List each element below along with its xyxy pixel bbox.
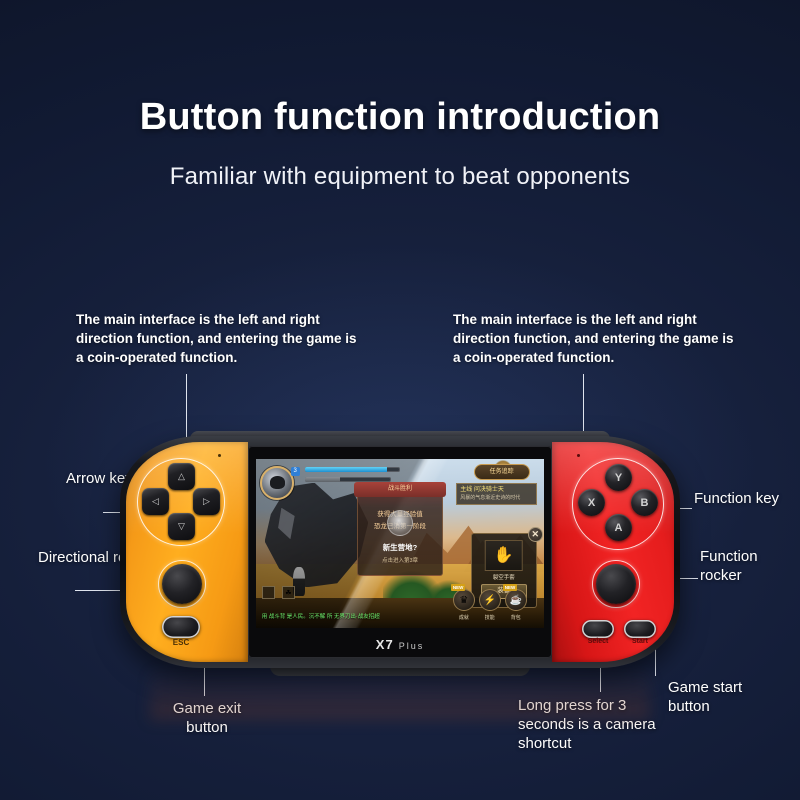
slide-root: Button function introduction Familiar wi…	[0, 0, 800, 800]
select-button[interactable]	[582, 620, 614, 638]
action-button-skills[interactable]: ⚡ 技能	[479, 589, 501, 611]
dialog-line-3: 新生营地?	[358, 542, 442, 553]
brand-model: X7	[376, 637, 394, 652]
glove-item-icon: ✋	[484, 540, 523, 570]
start-button-label: Start	[621, 638, 659, 645]
page-title: Button function introduction	[0, 96, 800, 139]
right-analog-stick[interactable]	[596, 564, 636, 604]
new-badge: NEW	[451, 584, 466, 591]
action-button-achievements[interactable]: NEW ♛ 成就	[453, 589, 475, 611]
callout-right-direction-coin: The main interface is the left and right…	[453, 310, 739, 367]
bag-icon: ☕	[510, 595, 522, 606]
dpad-right-icon[interactable]: ▷	[193, 488, 220, 515]
power-led-right-icon	[577, 454, 580, 457]
new-badge: NEW	[503, 584, 518, 591]
label-camera-shortcut: Long press for 3 seconds is a camera sho…	[518, 696, 670, 754]
button-y[interactable]: Y	[605, 464, 632, 491]
page-subtitle: Familiar with equipment to beat opponent…	[0, 163, 800, 191]
brand-suffix: Plus	[399, 641, 425, 651]
inventory-slot-1[interactable]	[262, 586, 275, 599]
start-button[interactable]	[624, 620, 656, 638]
quest-title: 主线 问决骑士天	[460, 486, 533, 494]
left-analog-stick[interactable]	[162, 564, 202, 604]
action-button-bag[interactable]: NEW ☕ 背包	[505, 589, 527, 611]
action-button-caption: 背包	[502, 614, 530, 621]
dpad-up-icon[interactable]: △	[168, 463, 195, 490]
label-game-exit-button: Game exit button	[152, 699, 262, 737]
face-buttons: Y X A B	[578, 464, 658, 544]
game-chat-text: 用 战斗背 是人民。沉不解 所 无界刀出·战友招超	[262, 613, 380, 621]
game-screen[interactable]: 3 任务追踪 主线 问决骑士天 风暴的气息渐近史诗的时代 战斗胜利 获得大量经验…	[256, 459, 544, 628]
label-game-start-button: Game start button	[668, 678, 768, 716]
label-function-key: Function key	[694, 489, 800, 508]
game-result-dialog[interactable]: 战斗胜利 获得大量经验值 恐龙已消第一阶段 新生营地? 点击进入第3章	[357, 488, 443, 576]
lightning-icon: ⚡	[484, 595, 496, 606]
inventory-slot-2[interactable]: ☘	[282, 586, 295, 599]
quest-tracker-banner[interactable]: 任务追踪	[474, 464, 530, 480]
esc-button[interactable]	[162, 616, 200, 638]
hud-health-bar	[305, 467, 400, 472]
button-x[interactable]: X	[578, 489, 605, 516]
action-button-caption: 成就	[450, 614, 478, 621]
label-function-rocker: Function rocker	[700, 547, 792, 585]
action-button-caption: 技能	[476, 614, 504, 621]
button-a[interactable]: A	[605, 514, 632, 541]
dpad-down-icon[interactable]: ▽	[168, 513, 195, 540]
dpad: △ ▽ ◁ ▷	[142, 463, 220, 541]
quest-tracker-box[interactable]: 主线 问决骑士天 风暴的气息渐近史诗的时代	[456, 483, 537, 505]
dialog-line-4[interactable]: 点击进入第3章	[358, 556, 442, 564]
select-button-label: Select	[579, 638, 617, 645]
quest-description: 风暴的气息渐近史诗的时代	[460, 495, 533, 502]
hud-player-avatar[interactable]	[260, 466, 294, 500]
hud-mana-bar	[305, 477, 391, 482]
hud-level-badge: 3	[291, 467, 300, 476]
item-name: 裂空手套	[472, 573, 536, 581]
esc-button-label: ESC	[162, 638, 200, 647]
trophy-icon: ♛	[459, 595, 468, 606]
button-b[interactable]: B	[631, 489, 658, 516]
screen-bezel: 3 任务追踪 主线 问决骑士天 风暴的气息渐近史诗的时代 战斗胜利 获得大量经验…	[248, 446, 552, 658]
leader-line-callout-left	[186, 374, 187, 442]
dialog-seal-icon	[387, 510, 413, 536]
power-led-left-icon	[218, 454, 221, 457]
device-brand: X7Plus	[248, 637, 552, 652]
callout-left-direction-coin: The main interface is the left and right…	[76, 310, 362, 367]
dpad-left-icon[interactable]: ◁	[142, 488, 169, 515]
handheld-console: △ ▽ ◁ ▷ ESC Y X A B Select Start	[120, 436, 680, 668]
dialog-header: 战斗胜利	[354, 482, 445, 497]
